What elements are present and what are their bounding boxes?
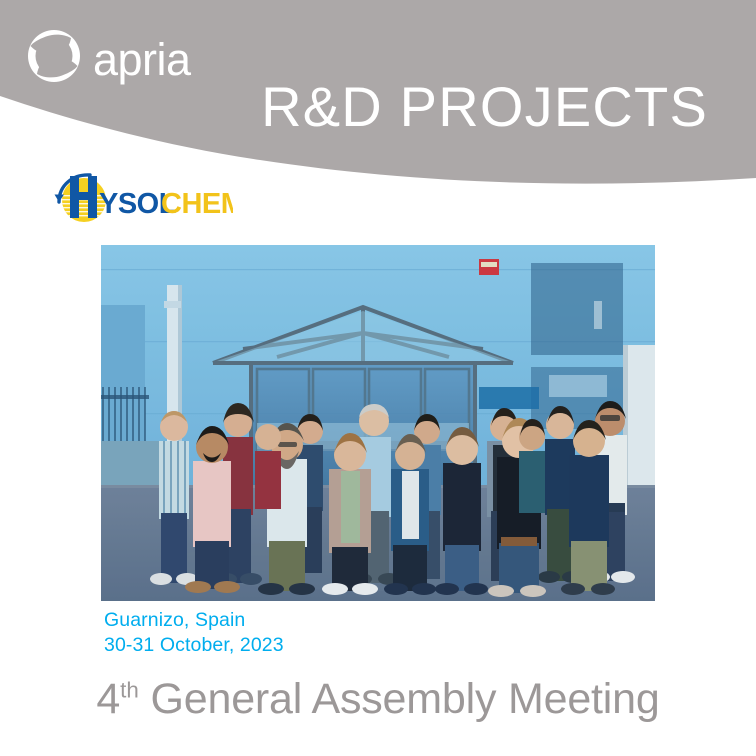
- hysolchem-logo: YSOL CHEM: [48, 166, 233, 226]
- photo-caption: Guarnizo, Spain 30-31 October, 2023: [104, 608, 284, 658]
- caption-location: Guarnizo, Spain: [104, 608, 284, 633]
- apria-wordmark: apria: [93, 37, 191, 82]
- footer-title: 4th General Assembly Meeting: [0, 676, 756, 723]
- apria-swirl-icon: [26, 28, 82, 84]
- footer-title-rest: General Assembly Meeting: [139, 675, 660, 723]
- footer-ordinal-number: 4: [96, 675, 120, 723]
- group-photo: [101, 245, 655, 601]
- apria-logo: apria: [26, 27, 211, 85]
- caption-dates: 30-31 October, 2023: [104, 633, 284, 658]
- poster-canvas: apria R&D PROJECTS: [0, 0, 756, 756]
- footer-ordinal-suffix: th: [120, 678, 139, 703]
- page-title: R&D PROJECTS: [261, 79, 708, 135]
- hysolchem-chem: CHEM: [161, 188, 233, 220]
